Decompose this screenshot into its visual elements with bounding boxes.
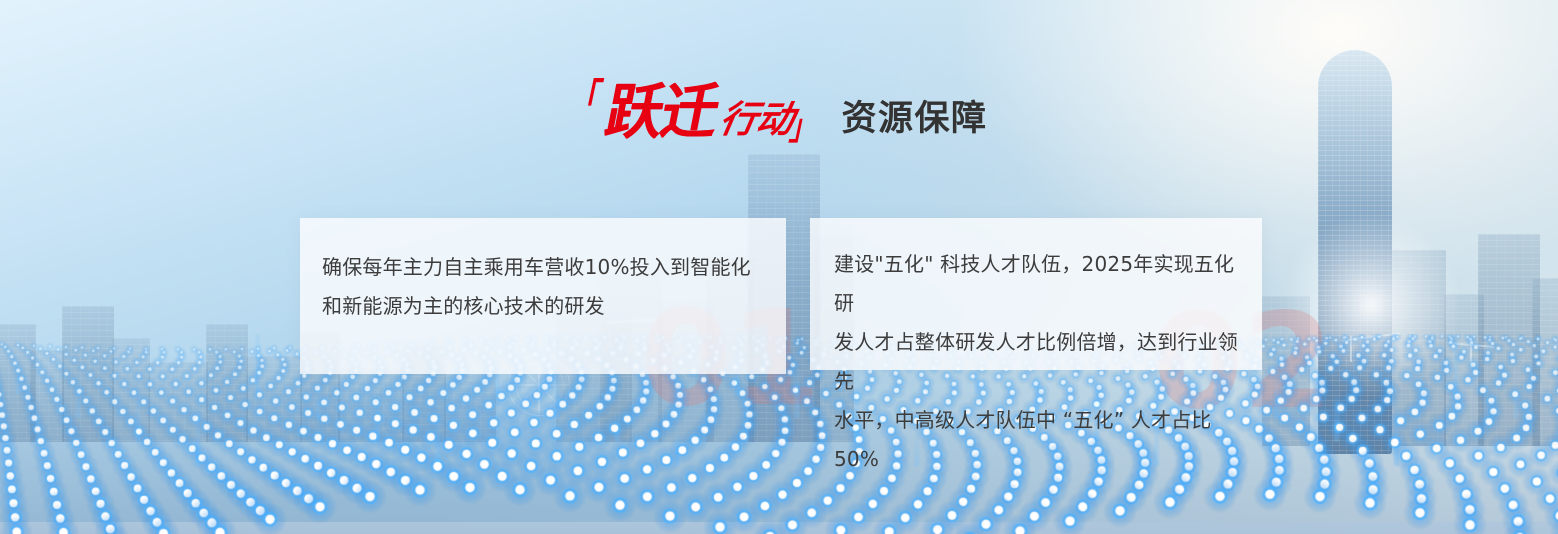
content-card-01[interactable]: 确保每年主力自主乘用车营收10%投入到智能化 和新能源为主的核心技术的研发 (300, 218, 786, 374)
quote-close-icon: 」 (788, 110, 821, 145)
quote-open-icon: 「 (566, 81, 605, 122)
slide-canvas: 01 02 「 跃迁 行动 」 资源保障 确保每年主力自主乘用车营收10%投入到… (0, 0, 1558, 534)
logo-main-text: 跃迁 (601, 84, 722, 142)
page-title: 资源保障 (842, 102, 988, 137)
card-01-body: 确保每年主力自主乘用车营收10%投入到智能化 和新能源为主的核心技术的研发 (322, 248, 768, 326)
campaign-logo[interactable]: 「 跃迁 行动 」 (570, 88, 817, 142)
content-card-02[interactable]: 建设"五化" 科技人才队伍，2025年实现五化研 发人才占整体研发人才比例倍增，… (810, 218, 1262, 370)
logo-sub-text: 行动 (717, 101, 797, 138)
card-02-body: 建设"五化" 科技人才队伍，2025年实现五化研 发人才占整体研发人才比例倍增，… (834, 245, 1248, 479)
